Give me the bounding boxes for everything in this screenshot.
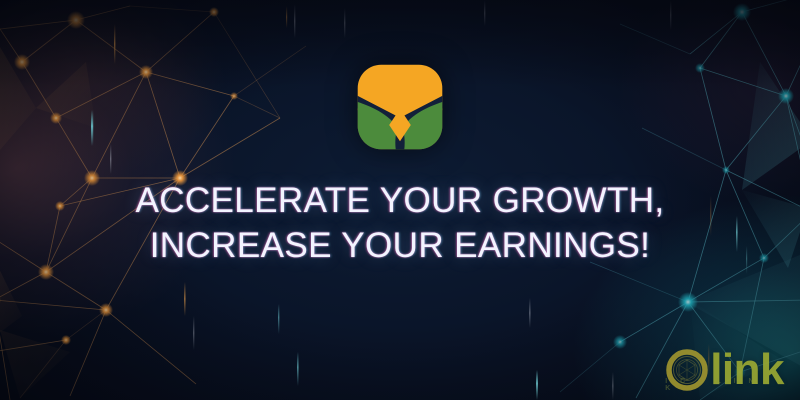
leaf-field-app-icon: [355, 62, 445, 152]
network-nodes-warm: [0, 7, 238, 345]
watermark-subtitle: I C O L I N K: [665, 378, 766, 392]
watermark-logo: link I C O L I N K: [665, 348, 784, 392]
headline-line-1: ACCELERATE YOUR GROWTH,: [0, 178, 800, 223]
brand-logo: [355, 62, 445, 152]
page-title: ACCELERATE YOUR GROWTH, INCREASE YOUR EA…: [0, 178, 800, 268]
headline-line-2: INCREASE YOUR EARNINGS!: [0, 223, 800, 268]
promo-banner: ACCELERATE YOUR GROWTH, INCREASE YOUR EA…: [0, 0, 800, 400]
